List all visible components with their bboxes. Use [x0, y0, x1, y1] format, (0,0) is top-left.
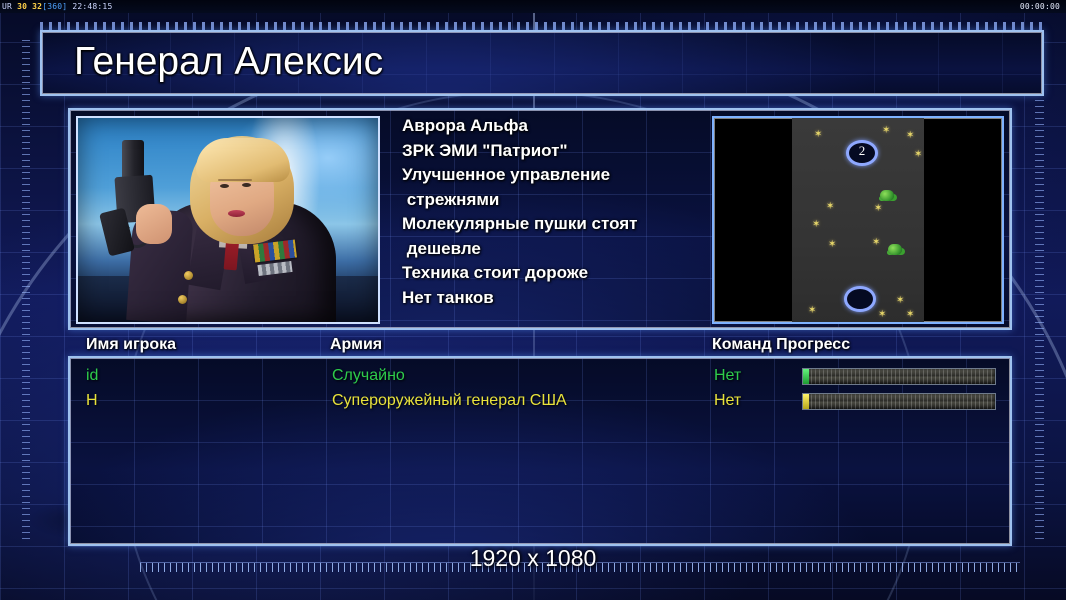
portrait-brow [218, 179, 252, 181]
player-progress-fill [803, 394, 809, 409]
status-bracket: [360] [42, 2, 67, 11]
ruler-top [40, 22, 1046, 30]
top-status-bar: UR 30 32[360] 22:48:15 00:00:00 [0, 0, 1066, 13]
general-info-panel: Аврора АльфаЗРК ЭМИ "Патриот"Улучшенное … [68, 108, 1012, 330]
ruler-right [1035, 40, 1044, 540]
map-foliage-icon [880, 190, 894, 201]
map-supply-star-icon: ✶ [812, 220, 820, 230]
map-supply-star-icon: ✶ [872, 238, 880, 248]
player-progress-bar [802, 368, 996, 385]
description-line: дешевле [402, 237, 702, 262]
map-supply-star-icon: ✶ [808, 306, 816, 316]
map-supply-star-icon: ✶ [906, 131, 914, 141]
page-title: Генерал Алексис [74, 40, 383, 84]
title-panel: Генерал Алексис [40, 30, 1044, 96]
map-foliage-icon [888, 244, 902, 255]
description-line: ЗРК ЭМИ "Патриот" [402, 139, 702, 164]
map-start-position[interactable] [844, 286, 876, 312]
map-supply-star-icon: ✶ [896, 296, 904, 306]
player-army[interactable]: Супероружейный генерал США [332, 389, 567, 413]
header-player-name: Имя игрока [86, 336, 176, 354]
map-supply-star-icon: ✶ [882, 126, 890, 136]
game-screen: UR 30 32[360] 22:48:15 00:00:00 Генерал … [0, 0, 1066, 600]
player-name: id [86, 364, 98, 388]
map-supply-star-icon: ✶ [914, 150, 922, 160]
map-preview[interactable]: ✶✶✶✶✶✶✶✶✶✶✶✶✶2 [712, 116, 1004, 324]
status-value-2: 32 [32, 2, 42, 11]
description-line: Нет танков [402, 286, 702, 311]
player-list-headers: Имя игрока Армия Команд Прогресс [68, 336, 1008, 358]
description-line: Молекулярные пушки стоят [402, 212, 702, 237]
map-supply-star-icon: ✶ [826, 202, 834, 212]
portrait-eye-right [242, 183, 251, 187]
player-progress-bar [802, 393, 996, 410]
player-row[interactable]: HСупероружейный генерал СШАНет [86, 389, 994, 413]
player-row[interactable]: idСлучайноНет [86, 364, 994, 388]
map-start-position[interactable]: 2 [846, 140, 878, 166]
map-supply-star-icon: ✶ [874, 204, 882, 214]
description-line: Техника стоит дороже [402, 261, 702, 286]
player-army[interactable]: Случайно [332, 364, 405, 388]
status-left: UR 30 32[360] 22:48:15 [2, 0, 112, 13]
header-team-progress: Команд Прогресс [712, 336, 850, 354]
portrait-lips [228, 210, 245, 217]
map-supply-star-icon: ✶ [814, 130, 822, 140]
description-line: Аврора Альфа [402, 114, 702, 139]
general-portrait [76, 116, 380, 324]
map-supply-star-icon: ✶ [906, 310, 914, 320]
player-team[interactable]: Нет [714, 389, 741, 413]
header-army: Армия [330, 336, 382, 354]
status-time: 22:48:15 [72, 2, 112, 11]
portrait-hand [136, 204, 172, 244]
portrait-eye-left [220, 184, 229, 188]
ruler-left [22, 40, 30, 540]
description-line: Улучшенное управление [402, 163, 702, 188]
status-right-timer: 00:00:00 [1020, 0, 1060, 13]
player-list-panel: idСлучайноНетHСупероружейный генерал США… [68, 356, 1012, 546]
player-name: H [86, 389, 98, 413]
player-team[interactable]: Нет [714, 364, 741, 388]
map-terrain: ✶✶✶✶✶✶✶✶✶✶✶✶✶2 [792, 118, 924, 322]
description-line: стрежнями [402, 188, 702, 213]
portrait-button-lower [178, 295, 187, 304]
portrait-hair-front [196, 138, 290, 182]
map-supply-star-icon: ✶ [878, 310, 886, 320]
status-prefix: UR [2, 2, 12, 11]
status-value-1: 30 [17, 2, 27, 11]
portrait-button-upper [184, 271, 193, 280]
map-supply-star-icon: ✶ [828, 240, 836, 250]
resolution-label: 1920 x 1080 [0, 545, 1066, 572]
general-description: Аврора АльфаЗРК ЭМИ "Патриот"Улучшенное … [402, 114, 702, 310]
player-progress-fill [803, 369, 809, 384]
